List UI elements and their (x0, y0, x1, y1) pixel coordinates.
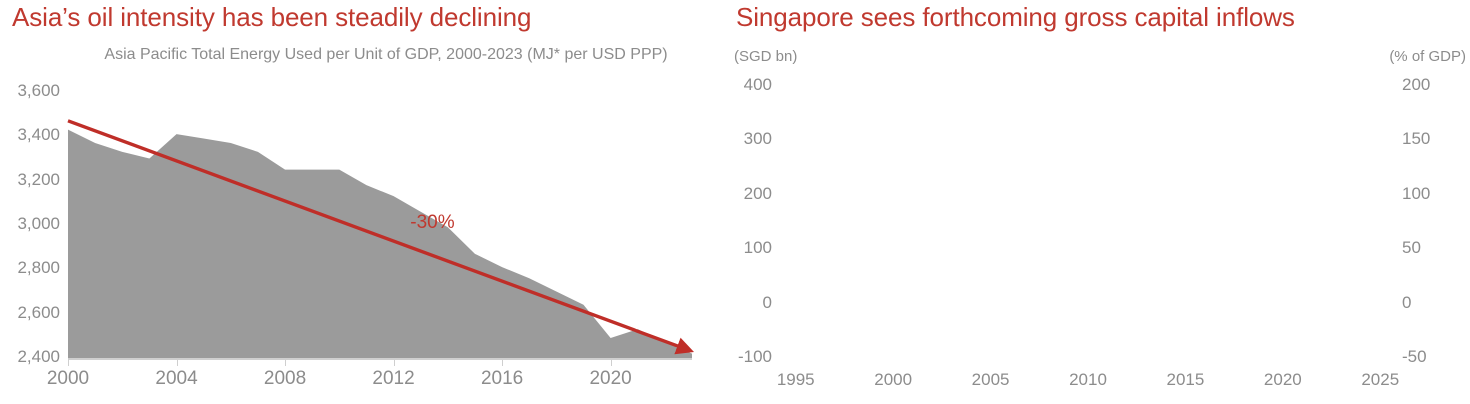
left-x-tick-2000: 2000 (33, 368, 103, 390)
left-y-tick-2800: 2,800 (2, 258, 60, 278)
left-y-tick-3600: 3,600 (2, 81, 60, 101)
decline-annotation: -30% (410, 212, 454, 234)
left-chart-baseline (68, 358, 692, 360)
left-x-tickmark (177, 359, 178, 366)
right-left-y-tick--100: -100 (716, 347, 772, 367)
right-x-tick-2020: 2020 (1248, 370, 1318, 390)
right-chart-panel: Singapore sees forthcoming gross capital… (716, 0, 1470, 404)
left-y-tick-3000: 3,000 (2, 214, 60, 234)
left-x-tickmark (394, 359, 395, 366)
right-x-tick-2025: 2025 (1345, 370, 1415, 390)
right-left-y-tick-100: 100 (716, 238, 772, 258)
right-right-y-tick-50: 50 (1402, 238, 1462, 258)
right-x-tick-2000: 2000 (858, 370, 928, 390)
right-right-y-tick-100: 100 (1402, 184, 1462, 204)
left-x-tick-2020: 2020 (576, 368, 646, 390)
left-axis-unit-label: (SGD bn) (734, 48, 797, 65)
left-x-tick-2004: 2004 (142, 368, 212, 390)
right-right-y-tick-0: 0 (1402, 293, 1462, 313)
right-left-y-tick-300: 300 (716, 129, 772, 149)
left-chart-title: Asia’s oil intensity has been steadily d… (12, 2, 531, 33)
left-chart-svg (68, 92, 692, 358)
left-y-tick-3400: 3,400 (2, 125, 60, 145)
left-x-tickmark (68, 359, 69, 366)
right-right-y-tick-200: 200 (1402, 75, 1462, 95)
left-x-tickmark (285, 359, 286, 366)
right-x-tick-2005: 2005 (956, 370, 1026, 390)
left-y-tick-2400: 2,400 (2, 347, 60, 367)
right-left-y-tick-0: 0 (716, 293, 772, 313)
right-axis-unit-label: (% of GDP) (1389, 48, 1466, 65)
left-x-tick-2008: 2008 (250, 368, 320, 390)
right-x-tick-2010: 2010 (1053, 370, 1123, 390)
right-chart-title: Singapore sees forthcoming gross capital… (736, 2, 1295, 33)
left-chart-subtitle: Asia Pacific Total Energy Used per Unit … (96, 44, 676, 66)
right-right-y-tick-150: 150 (1402, 129, 1462, 149)
left-y-tick-2600: 2,600 (2, 303, 60, 323)
right-x-tick-2015: 2015 (1150, 370, 1220, 390)
left-x-tickmark (611, 359, 612, 366)
left-chart-panel: Asia’s oil intensity has been steadily d… (0, 0, 710, 404)
figure-canvas: Asia’s oil intensity has been steadily d… (0, 0, 1470, 404)
right-x-tick-1995: 1995 (761, 370, 831, 390)
left-x-tick-2012: 2012 (359, 368, 429, 390)
left-chart-plot-area: -30% (68, 92, 692, 358)
right-left-y-tick-400: 400 (716, 75, 772, 95)
right-right-y-tick--50: -50 (1402, 347, 1462, 367)
right-left-y-tick-200: 200 (716, 184, 772, 204)
energy-intensity-area (68, 130, 692, 358)
left-x-tick-2016: 2016 (467, 368, 537, 390)
left-x-tickmark (502, 359, 503, 366)
left-y-tick-3200: 3,200 (2, 170, 60, 190)
